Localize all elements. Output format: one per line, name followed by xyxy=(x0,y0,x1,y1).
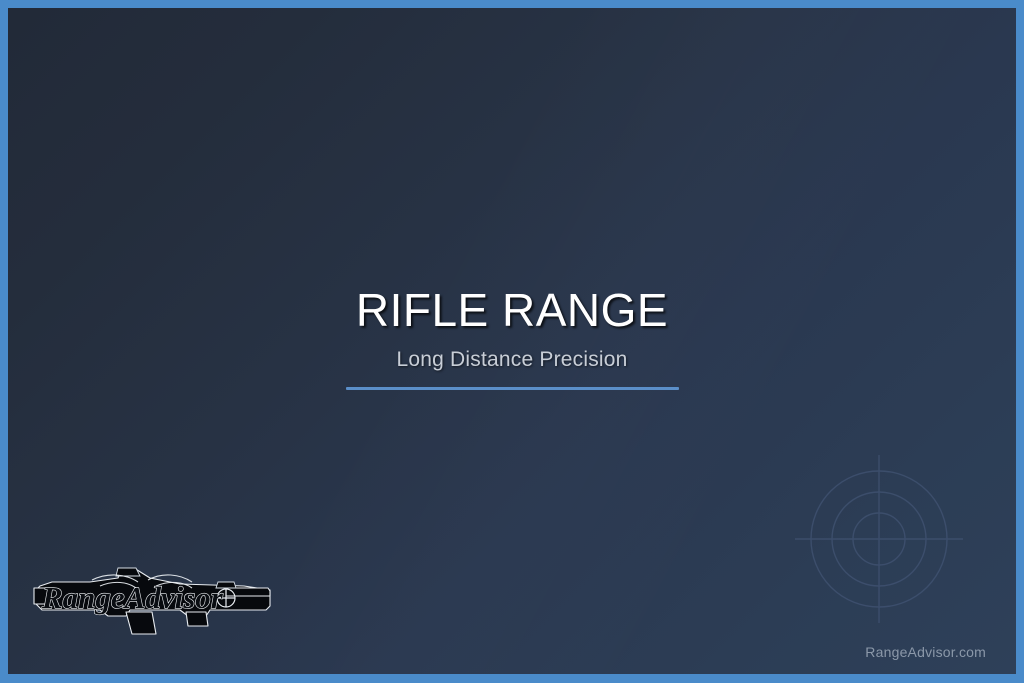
title-divider xyxy=(346,387,679,390)
page-title: RIFLE RANGE xyxy=(8,286,1016,336)
logo-wordmark: RangeAdvisor xyxy=(41,580,224,615)
footer-url: RangeAdvisor.com xyxy=(865,644,986,660)
title-block: RIFLE RANGE Long Distance Precision xyxy=(8,286,1016,390)
slide-canvas: RIFLE RANGE Long Distance Precision xyxy=(8,8,1016,674)
crosshair-reticle-icon xyxy=(791,451,967,627)
presentation-slide: RIFLE RANGE Long Distance Precision xyxy=(0,0,1024,683)
rangeadvisor-rifle-logo: RangeAdvisor xyxy=(30,560,274,638)
page-subtitle: Long Distance Precision xyxy=(8,348,1016,372)
